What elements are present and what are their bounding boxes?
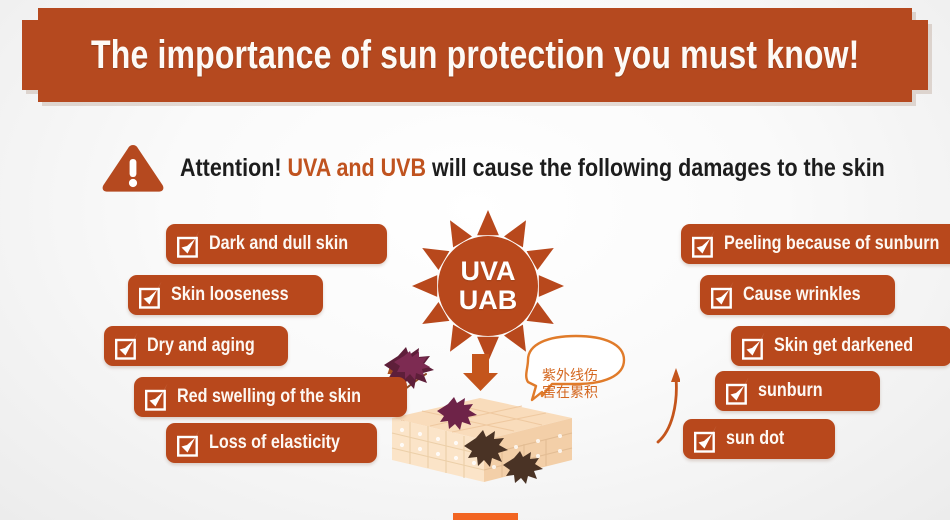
damage-item-left-3[interactable]: Dry and aging [104, 326, 288, 366]
speech-bubble [526, 336, 624, 400]
damage-item-right-5[interactable]: sun dot [683, 419, 835, 459]
damage-item-right-4[interactable]: sunburn [715, 371, 880, 411]
damage-item-left-4[interactable]: Red swelling of the skin [134, 377, 407, 417]
damage-item-left-2[interactable]: Skin looseness [128, 275, 323, 315]
damage-item-label: Cause wrinkles [743, 284, 861, 306]
attention-suffix: will cause the following damages to the … [426, 154, 885, 182]
title-banner: The importance of sun protection you mus… [22, 8, 928, 102]
banner-body: The importance of sun protection you mus… [22, 8, 928, 102]
down-arrow-icon [463, 354, 498, 391]
damage-item-right-1[interactable]: Peeling because of sunburn [681, 224, 950, 264]
damage-item-label: Red swelling of the skin [177, 386, 361, 408]
damage-item-label: Dark and dull skin [209, 233, 348, 255]
warning-triangle-icon [100, 142, 166, 194]
curved-arrow-up-right-icon [658, 368, 680, 442]
checkbox-checked-icon [741, 331, 767, 361]
checkbox-checked-icon [693, 424, 719, 454]
damage-item-right-3[interactable]: Skin get darkened [731, 326, 950, 366]
checkbox-checked-icon [725, 376, 751, 406]
checkbox-checked-icon [138, 280, 164, 310]
attention-text: Attention! UVA and UVB will cause the fo… [180, 154, 885, 183]
damage-item-label: sunburn [758, 380, 823, 402]
damage-item-label: Loss of elasticity [209, 432, 340, 454]
checkbox-checked-icon [176, 229, 202, 259]
checkbox-checked-icon [144, 382, 170, 412]
damage-item-label: Skin get darkened [774, 335, 913, 357]
damage-item-left-1[interactable]: Dark and dull skin [166, 224, 387, 264]
damage-item-label: Dry and aging [147, 335, 255, 357]
attention-highlight: UVA and UVB [287, 154, 426, 182]
checkbox-checked-icon [176, 428, 202, 458]
bottom-accent-bar [453, 513, 518, 520]
checkbox-checked-icon [691, 229, 717, 259]
damage-item-left-5[interactable]: Loss of elasticity [166, 423, 377, 463]
damage-item-label: Skin looseness [171, 284, 289, 306]
damage-item-right-2[interactable]: Cause wrinkles [700, 275, 895, 315]
attention-prefix: Attention! [180, 154, 287, 182]
checkbox-checked-icon [114, 331, 140, 361]
damage-item-label: Peeling because of sunburn [724, 233, 939, 255]
attention-row: Attention! UVA and UVB will cause the fo… [100, 140, 950, 196]
damage-item-label: sun dot [726, 428, 784, 450]
checkbox-checked-icon [710, 280, 736, 310]
page-title: The importance of sun protection you mus… [91, 33, 859, 78]
infographic-canvas: The importance of sun protection you mus… [0, 0, 950, 520]
